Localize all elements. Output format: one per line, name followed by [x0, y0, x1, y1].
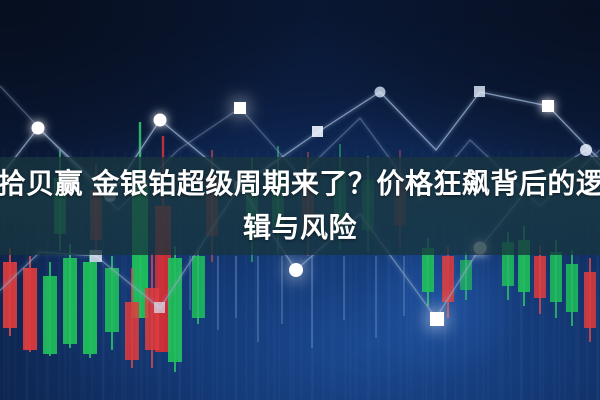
title-line-2: 辑与风险 [243, 206, 357, 250]
banner-image: 拾贝赢 金银铂超级周期来了？价格狂飙背后的逻 辑与风险 [0, 0, 600, 400]
banner-title: 拾贝赢 金银铂超级周期来了？价格狂飙背后的逻 辑与风险 [0, 160, 600, 252]
title-line-1: 拾贝赢 金银铂超级周期来了？价格狂飙背后的逻 [0, 162, 600, 206]
